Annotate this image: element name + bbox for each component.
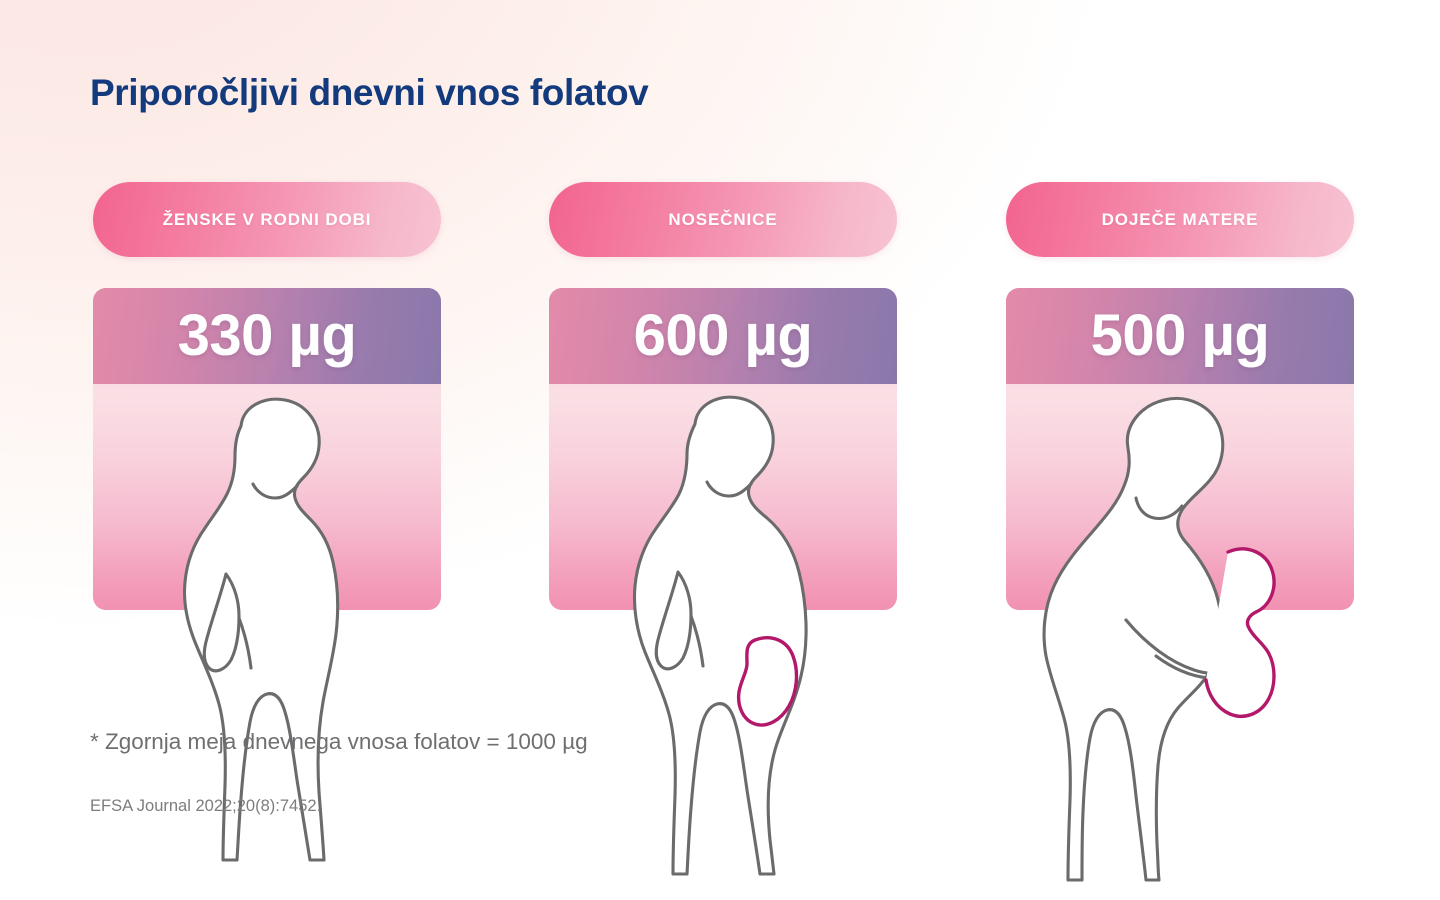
intake-column-women-childbearing-age: ŽENSKE V RODNI DOBI 330 µg (93, 182, 441, 257)
category-pill-label: ŽENSKE V RODNI DOBI (163, 210, 372, 230)
category-pill-pregnant-women[interactable]: NOSEČNICE (549, 182, 897, 257)
intake-value: 600 µg (634, 307, 813, 365)
intake-column-breastfeeding-mothers: DOJEČE MATERE 500 µg (1006, 182, 1354, 257)
intake-card-women-childbearing-age: 330 µg (93, 288, 441, 610)
category-pill-label: NOSEČNICE (668, 210, 777, 230)
category-pill-breastfeeding-mothers[interactable]: DOJEČE MATERE (1006, 182, 1354, 257)
folate-intake-infographic: Priporočljivi dnevni vnos folatov ŽENSKE… (0, 0, 1440, 900)
value-bar: 600 µg (549, 288, 897, 384)
upper-limit-footnote: * Zgornja meja dnevnega vnosa folatov = … (90, 729, 588, 755)
source-citation: EFSA Journal 2022;20(8):7452. (90, 797, 321, 816)
value-bar: 500 µg (1006, 288, 1354, 384)
intake-value: 500 µg (1091, 307, 1270, 365)
intake-card-pregnant-women: 600 µg (549, 288, 897, 610)
category-pill-label: DOJEČE MATERE (1102, 210, 1259, 230)
intake-column-pregnant-women: NOSEČNICE 600 µg (549, 182, 897, 257)
page-title: Priporočljivi dnevni vnos folatov (90, 72, 648, 114)
intake-card-breastfeeding-mothers: 500 µg (1006, 288, 1354, 610)
category-pill-women-childbearing-age[interactable]: ŽENSKE V RODNI DOBI (93, 182, 441, 257)
value-bar: 330 µg (93, 288, 441, 384)
intake-value: 330 µg (178, 307, 357, 365)
